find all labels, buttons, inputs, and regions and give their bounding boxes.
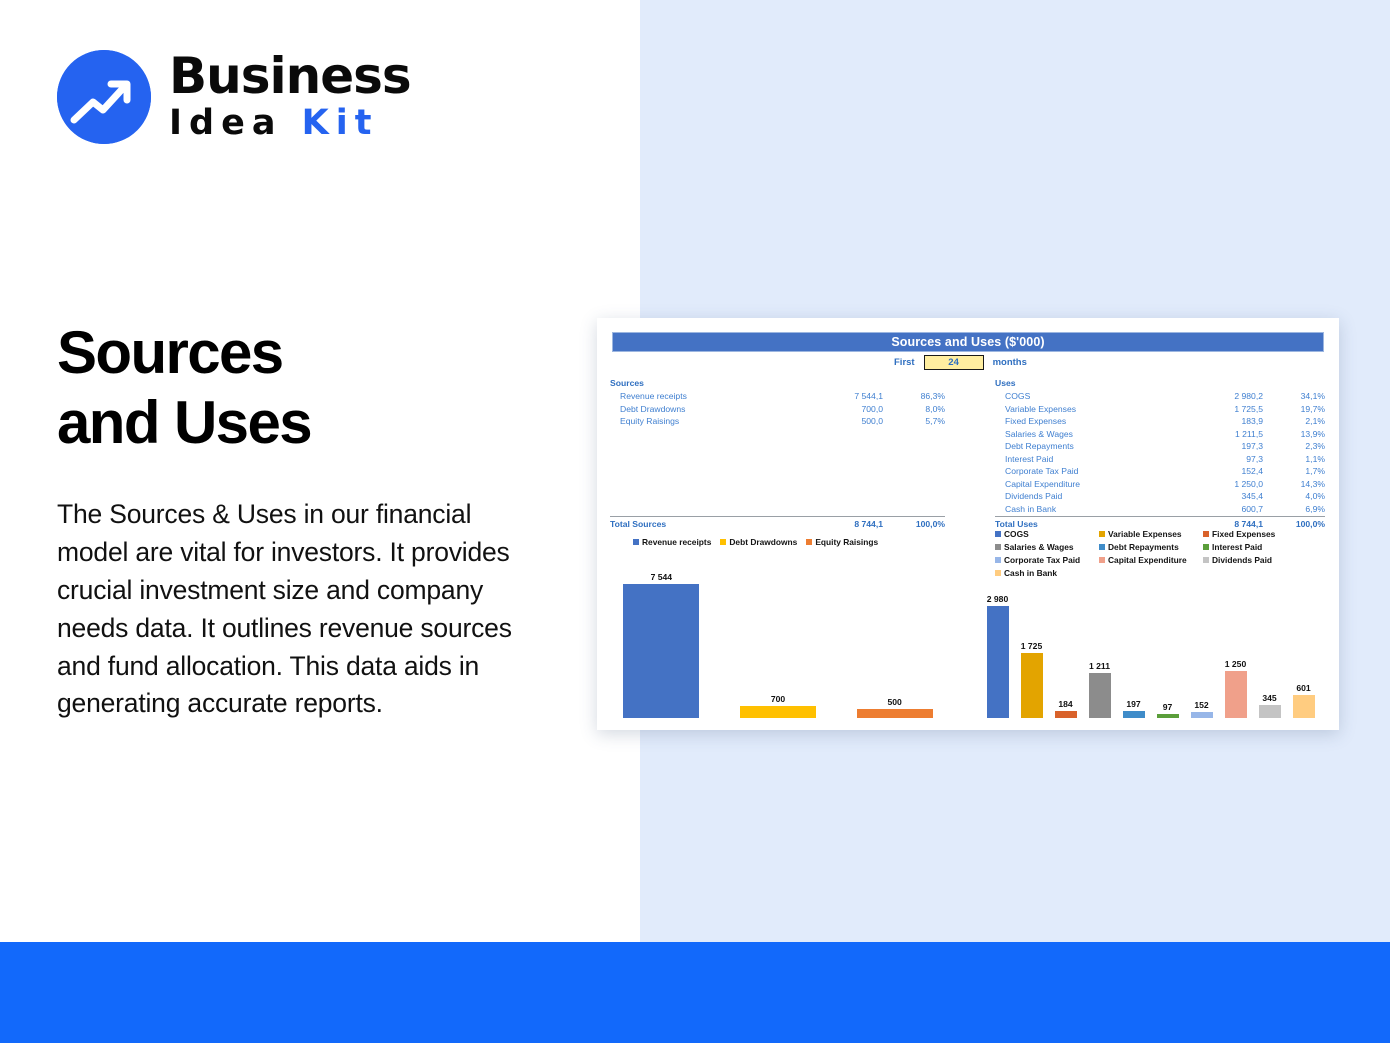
legend-label: Variable Expenses <box>1108 529 1182 539</box>
brand-logo: Business Idea Kit <box>57 50 411 144</box>
row-value: 1 211,5 <box>1185 428 1263 441</box>
row-value: 197,3 <box>1185 440 1263 453</box>
sources-table: Sources Revenue receipts 7 544,1 86,3% D… <box>610 378 945 428</box>
table-row: Interest Paid 97,3 1,1% <box>995 453 1325 466</box>
row-percent: 1,7% <box>1263 465 1325 478</box>
bottom-accent-bar <box>0 942 1390 1043</box>
legend-label: Revenue receipts <box>642 537 711 547</box>
spreadsheet-card: Sources and Uses ($'000) First 24 months… <box>597 318 1339 730</box>
period-suffix-label: months <box>993 357 1027 368</box>
table-row: Fixed Expenses 183,9 2,1% <box>995 415 1325 428</box>
bar-value-label: 197 <box>1126 699 1140 709</box>
row-value: 1 725,5 <box>1185 403 1263 416</box>
uses-bar-chart: 2 9801 7251841 211197971521 250345601 <box>982 556 1327 726</box>
row-label: Dividends Paid <box>995 490 1185 503</box>
legend-swatch-icon <box>806 539 812 545</box>
uses-bars: 2 9801 7251841 211197971521 250345601 <box>982 566 1327 718</box>
legend-swatch-icon <box>1203 531 1209 537</box>
table-row: Dividends Paid 345,4 4,0% <box>995 490 1325 503</box>
legend-swatch-icon <box>995 544 1001 550</box>
row-percent: 4,0% <box>1263 490 1325 503</box>
chart-bar-slot: 7 544 <box>610 566 713 718</box>
sheet-title-bar: Sources and Uses ($'000) <box>612 332 1324 352</box>
legend-item: Equity Raisings <box>806 537 878 547</box>
total-label: Total Uses <box>995 519 1185 529</box>
total-value: 8 744,1 <box>1185 519 1263 529</box>
row-percent: 13,9% <box>1263 428 1325 441</box>
legend-item: Revenue receipts <box>633 537 711 547</box>
chart-bar <box>1089 673 1111 719</box>
bar-value-label: 601 <box>1296 683 1310 693</box>
table-row: COGS 2 980,2 34,1% <box>995 390 1325 403</box>
brand-name-line1: Business <box>169 51 411 101</box>
table-row: Debt Repayments 197,3 2,3% <box>995 440 1325 453</box>
chart-bar-slot: 152 <box>1186 566 1217 718</box>
row-value: 2 980,2 <box>1185 390 1263 403</box>
table-row: Equity Raisings 500,0 5,7% <box>610 415 945 428</box>
row-label: COGS <box>995 390 1185 403</box>
legend-item: Debt Repayments <box>1099 542 1203 552</box>
chart-bar <box>1259 705 1281 718</box>
row-label: Corporate Tax Paid <box>995 465 1185 478</box>
chart-bar <box>1191 712 1213 718</box>
legend-label: COGS <box>1004 529 1029 539</box>
bar-value-label: 152 <box>1194 700 1208 710</box>
legend-label: Debt Drawdowns <box>729 537 797 547</box>
chart-bar-slot: 700 <box>727 566 830 718</box>
chart-bar <box>1225 671 1247 718</box>
chart-bar-slot: 1 725 <box>1016 566 1047 718</box>
total-percent: 100,0% <box>1263 519 1325 529</box>
row-percent: 2,3% <box>1263 440 1325 453</box>
brand-name-line2: Idea Kit <box>169 103 411 143</box>
legend-label: Equity Raisings <box>815 537 878 547</box>
legend-item: Debt Drawdowns <box>720 537 797 547</box>
chart-bar-slot: 1 211 <box>1084 566 1115 718</box>
chart-bar-slot: 601 <box>1288 566 1319 718</box>
row-label: Revenue receipts <box>610 390 805 403</box>
row-percent: 1,1% <box>1263 453 1325 466</box>
row-value: 7 544,1 <box>805 390 883 403</box>
period-months-input[interactable]: 24 <box>924 355 984 370</box>
period-prefix-label: First <box>894 357 915 368</box>
chart-bar-slot: 197 <box>1118 566 1149 718</box>
uses-total-row: Total Uses 8 744,1 100,0% <box>995 517 1325 529</box>
total-label: Total Sources <box>610 519 805 529</box>
page-title: Sources and Uses <box>57 318 597 457</box>
chart-bar <box>1293 695 1315 718</box>
bar-value-label: 700 <box>771 694 785 704</box>
legend-label: Salaries & Wages <box>1004 542 1074 552</box>
sources-total-row: Total Sources 8 744,1 100,0% <box>610 517 945 529</box>
uses-table-body: COGS 2 980,2 34,1% Variable Expenses 1 7… <box>995 390 1325 515</box>
bar-value-label: 184 <box>1058 699 1072 709</box>
period-selector-row: First 24 months <box>894 355 1027 370</box>
brand-wordmark: Business Idea Kit <box>169 51 411 143</box>
legend-item: Salaries & Wages <box>995 542 1099 552</box>
row-label: Variable Expenses <box>995 403 1185 416</box>
table-row: Debt Drawdowns 700,0 8,0% <box>610 403 945 416</box>
row-label: Salaries & Wages <box>995 428 1185 441</box>
table-row: Corporate Tax Paid 152,4 1,7% <box>995 465 1325 478</box>
legend-label: Interest Paid <box>1212 542 1262 552</box>
chart-bar <box>857 709 933 718</box>
bar-value-label: 97 <box>1163 702 1173 712</box>
sources-table-body: Revenue receipts 7 544,1 86,3% Debt Draw… <box>610 390 945 428</box>
row-percent: 86,3% <box>883 390 945 403</box>
row-percent: 34,1% <box>1263 390 1325 403</box>
total-percent: 100,0% <box>883 519 945 529</box>
bar-value-label: 345 <box>1262 693 1276 703</box>
chart-bar-slot: 2 980 <box>982 566 1013 718</box>
row-value: 1 250,0 <box>1185 478 1263 491</box>
chart-bar-slot: 97 <box>1152 566 1183 718</box>
row-label: Capital Expenditure <box>995 478 1185 491</box>
legend-label: Fixed Expenses <box>1212 529 1275 539</box>
legend-item: Variable Expenses <box>1099 529 1203 539</box>
brand-name-kit: Kit <box>302 103 379 143</box>
legend-swatch-icon <box>1099 531 1105 537</box>
chart-bar <box>1123 711 1145 718</box>
sources-bar-chart: 7 544700500 <box>610 556 960 726</box>
row-percent: 19,7% <box>1263 403 1325 416</box>
sources-table-header: Sources <box>610 378 945 390</box>
table-row: Salaries & Wages 1 211,5 13,9% <box>995 428 1325 441</box>
uses-table-header: Uses <box>995 378 1325 390</box>
chart-bar <box>1021 653 1043 718</box>
total-value: 8 744,1 <box>805 519 883 529</box>
chart-bar <box>623 584 699 718</box>
trending-up-arrow-icon <box>57 50 151 144</box>
chart-bar-slot: 184 <box>1050 566 1081 718</box>
row-percent: 5,7% <box>883 415 945 428</box>
chart-bar <box>1157 714 1179 718</box>
chart-bar-slot: 500 <box>843 566 946 718</box>
chart-bar <box>987 606 1009 718</box>
legend-item: Interest Paid <box>1203 542 1307 552</box>
legend-swatch-icon <box>633 539 639 545</box>
row-label: Equity Raisings <box>610 415 805 428</box>
row-value: 345,4 <box>1185 490 1263 503</box>
legend-label: Debt Repayments <box>1108 542 1179 552</box>
bar-value-label: 2 980 <box>987 594 1009 604</box>
bar-value-label: 1 211 <box>1089 661 1110 671</box>
table-row: Variable Expenses 1 725,5 19,7% <box>995 403 1325 416</box>
row-label: Debt Repayments <box>995 440 1185 453</box>
uses-table: Uses COGS 2 980,2 34,1% Variable Expense… <box>995 378 1325 515</box>
sources-bars: 7 544700500 <box>610 566 960 718</box>
brand-name-idea: Idea <box>169 103 302 143</box>
chart-bar-slot: 1 250 <box>1220 566 1251 718</box>
row-percent: 14,3% <box>1263 478 1325 491</box>
bar-value-label: 500 <box>888 697 902 707</box>
sources-total-wrapper: Total Sources 8 744,1 100,0% <box>610 514 945 529</box>
sources-rows: Revenue receipts 7 544,1 86,3% Debt Draw… <box>610 390 945 428</box>
bar-value-label: 7 544 <box>651 572 673 582</box>
page-description: The Sources & Uses in our financial mode… <box>57 496 512 723</box>
legend-swatch-icon <box>720 539 726 545</box>
chart-bar-slot: 345 <box>1254 566 1285 718</box>
slide-root: Business Idea Kit Sources and Uses The S… <box>0 0 1390 1043</box>
legend-item: Fixed Expenses <box>1203 529 1307 539</box>
table-row: Capital Expenditure 1 250,0 14,3% <box>995 478 1325 491</box>
legend-swatch-icon <box>1203 544 1209 550</box>
table-row: Revenue receipts 7 544,1 86,3% <box>610 390 945 403</box>
chart-bar <box>740 706 816 718</box>
row-label: Fixed Expenses <box>995 415 1185 428</box>
legend-swatch-icon <box>995 531 1001 537</box>
row-percent: 8,0% <box>883 403 945 416</box>
row-value: 97,3 <box>1185 453 1263 466</box>
row-value: 152,4 <box>1185 465 1263 478</box>
row-value: 500,0 <box>805 415 883 428</box>
row-percent: 2,1% <box>1263 415 1325 428</box>
legend-item: COGS <box>995 529 1099 539</box>
chart-bar <box>1055 711 1077 718</box>
bar-value-label: 1 250 <box>1225 659 1247 669</box>
row-label: Debt Drawdowns <box>610 403 805 416</box>
bar-value-label: 1 725 <box>1021 641 1043 651</box>
legend-swatch-icon <box>1099 544 1105 550</box>
row-value: 700,0 <box>805 403 883 416</box>
uses-total-wrapper: Total Uses 8 744,1 100,0% <box>995 514 1325 529</box>
sources-chart-legend: Revenue receiptsDebt DrawdownsEquity Rai… <box>633 537 953 550</box>
uses-rows: COGS 2 980,2 34,1% Variable Expenses 1 7… <box>995 390 1325 515</box>
row-label: Interest Paid <box>995 453 1185 466</box>
row-value: 183,9 <box>1185 415 1263 428</box>
